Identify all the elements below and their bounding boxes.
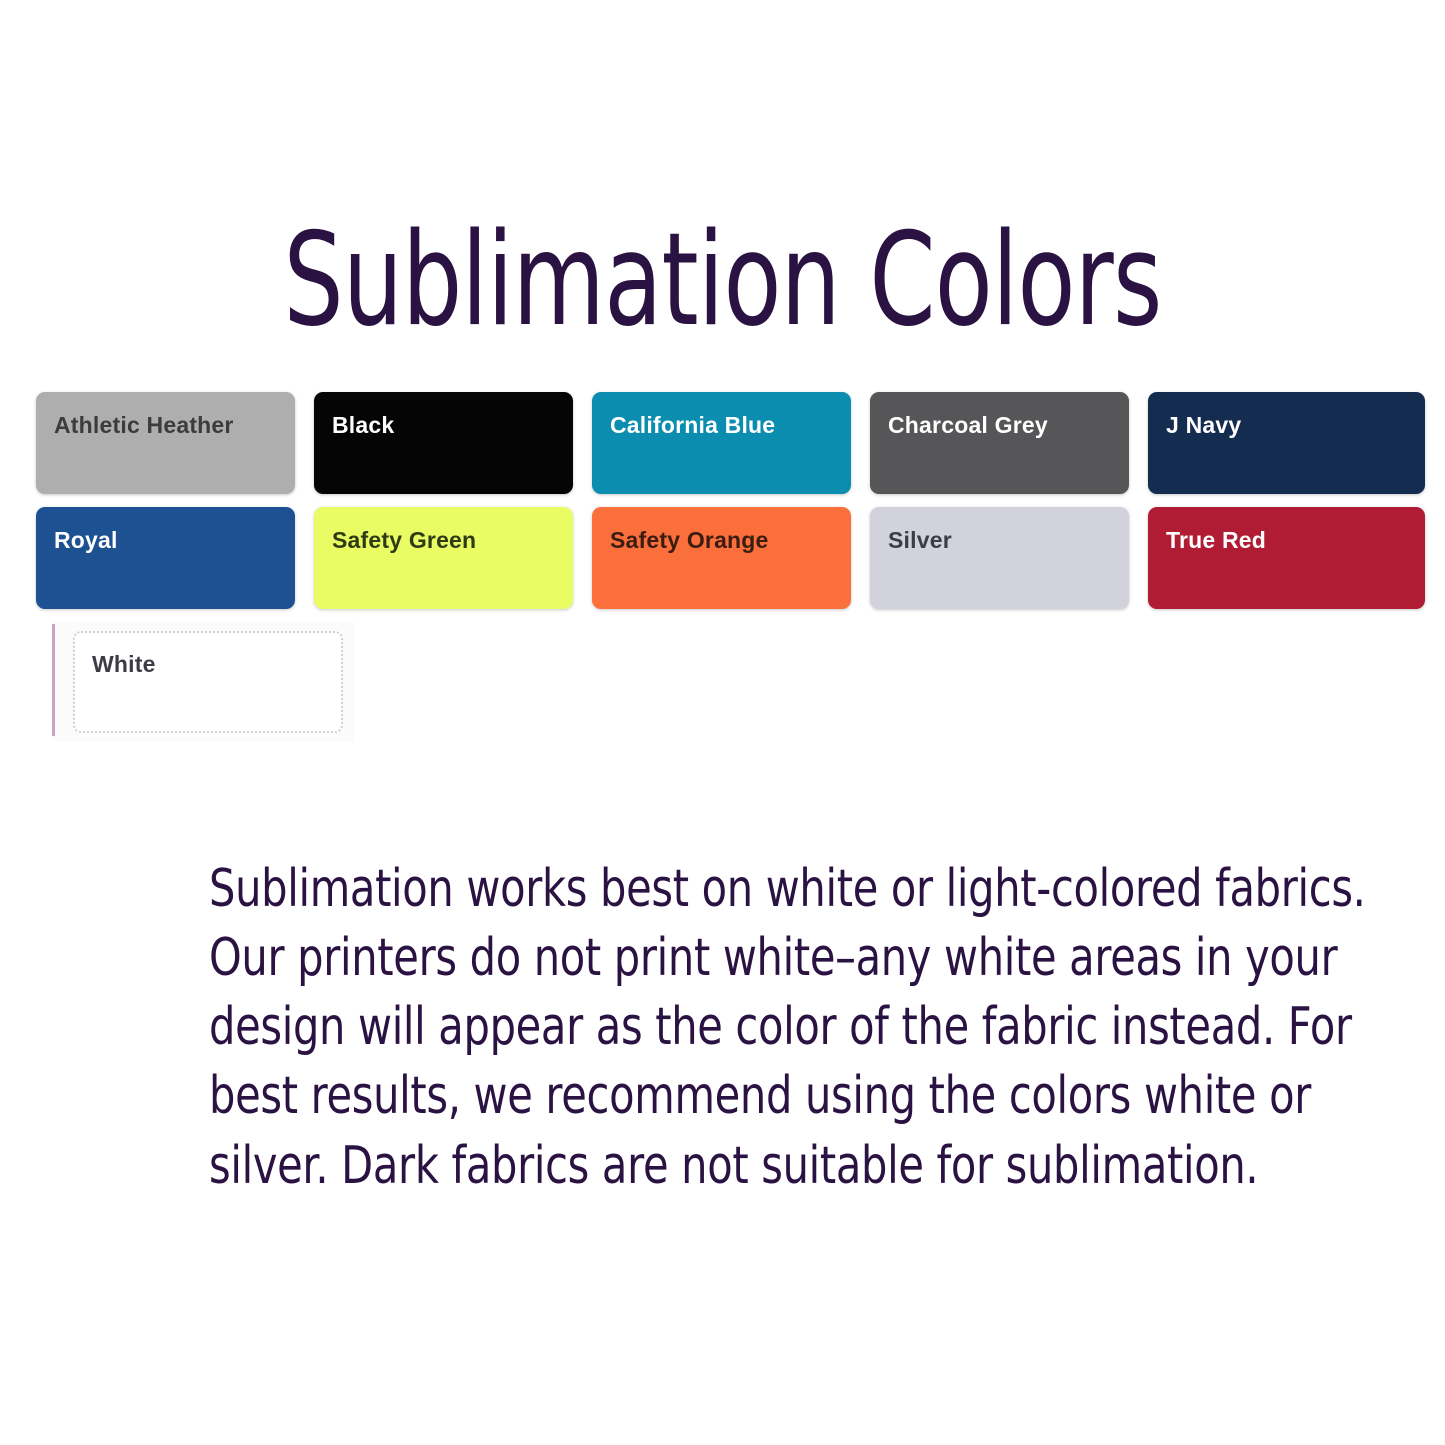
page-title: Sublimation Colors [188, 214, 1257, 348]
swatch-label: Safety Orange [610, 524, 825, 557]
swatch-charcoal-grey[interactable]: Charcoal Grey [870, 392, 1129, 494]
sublimation-colors-page: Sublimation Colors Athletic Heather Blac… [0, 0, 1445, 1445]
swatch-row: Royal Safety Green Safety Orange Silver … [0, 507, 1445, 609]
color-swatch-grid: Athletic Heather Black California Blue C… [0, 392, 1445, 755]
swatch-white-container: White [52, 622, 355, 742]
swatch-royal[interactable]: Royal [36, 507, 295, 609]
swatch-safety-green[interactable]: Safety Green [314, 507, 573, 609]
note-line-2: Our printers do not print white–any whit… [209, 924, 1241, 993]
note-line-1: Sublimation works best on white or light… [209, 855, 1241, 924]
swatch-label: Royal [54, 524, 269, 557]
note-line-4: best results, we recommend using the col… [209, 1062, 1241, 1131]
note-line-3: design will appear as the color of the f… [209, 993, 1241, 1062]
swatch-athletic-heather[interactable]: Athletic Heather [36, 392, 295, 494]
swatch-label: California Blue [610, 409, 825, 442]
swatch-row: Athletic Heather Black California Blue C… [0, 392, 1445, 494]
swatch-label: Charcoal Grey [888, 409, 1103, 442]
swatch-california-blue[interactable]: California Blue [592, 392, 851, 494]
sublimation-note: Sublimation works best on white or light… [80, 855, 1370, 1201]
swatch-safety-orange[interactable]: Safety Orange [592, 507, 851, 609]
swatch-label: Silver [888, 524, 1103, 557]
swatch-label: True Red [1166, 524, 1381, 557]
swatch-label: J Navy [1166, 409, 1381, 442]
swatch-label: Safety Green [332, 524, 547, 557]
swatch-white[interactable]: White [73, 631, 343, 733]
swatch-row: White [0, 622, 1445, 742]
swatch-label: Black [332, 409, 547, 442]
swatch-j-navy[interactable]: J Navy [1148, 392, 1425, 494]
swatch-black[interactable]: Black [314, 392, 573, 494]
swatch-label: Athletic Heather [54, 409, 269, 442]
note-line-5: silver. Dark fabrics are not suitable fo… [209, 1132, 1241, 1201]
swatch-label: White [92, 648, 307, 681]
swatch-silver[interactable]: Silver [870, 507, 1129, 609]
swatch-true-red[interactable]: True Red [1148, 507, 1425, 609]
